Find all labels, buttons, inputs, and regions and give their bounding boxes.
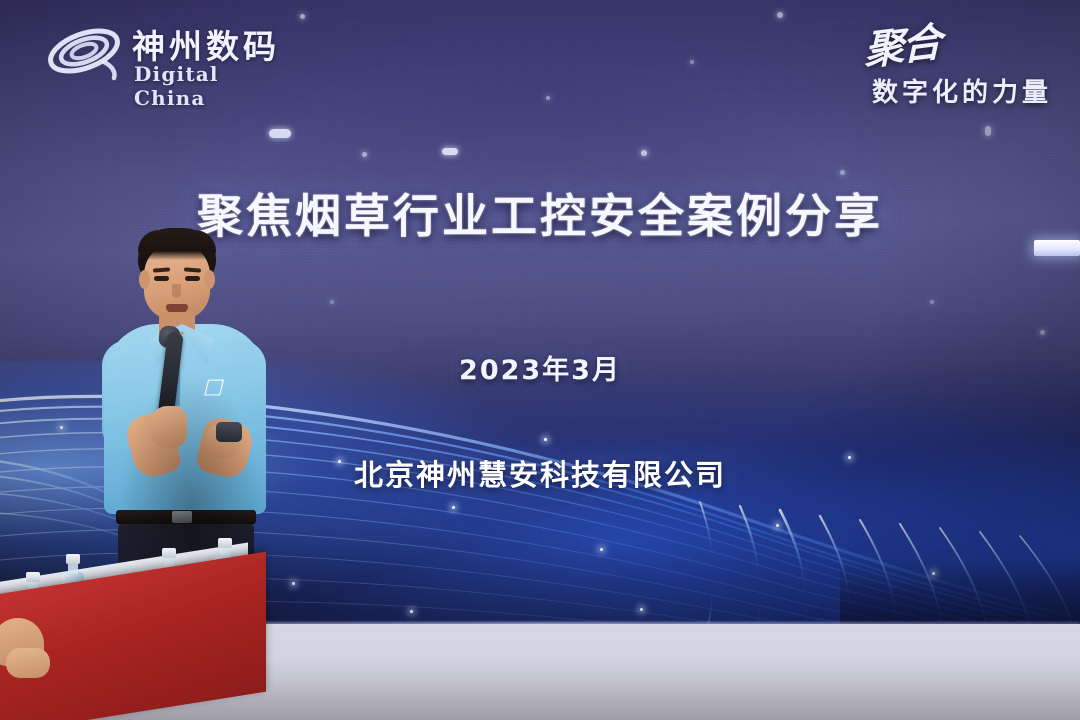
speaker-belt-buckle [172, 511, 192, 523]
brand-name-cn: 神州数码 [132, 20, 280, 68]
stage-right-shadow [840, 560, 1080, 630]
presentation-clicker [216, 422, 242, 442]
speaker-nose [172, 284, 181, 298]
calligraphy-text: 聚合 [864, 9, 940, 77]
juhe-calligraphy-logo: 聚合 数字化的力量 [798, 12, 1058, 112]
conference-stage-photo: 神州数码 Digital China 聚合 数字化的力量 聚焦烟草行业工控安全案… [0, 0, 1080, 720]
calligraphy-tagline: 数字化的力量 [872, 72, 1052, 109]
speaker-ear-left [139, 270, 150, 289]
digital-china-logo: 神州数码 Digital China [44, 14, 294, 92]
speaker-hand-left [151, 406, 187, 448]
brand-name-en: Digital China [134, 62, 294, 110]
spiral-swirl-icon [44, 18, 124, 84]
speaker-eye-right [185, 276, 200, 281]
shirt-logo-icon: ⃞ [208, 378, 234, 400]
speaker-ear-right [204, 270, 215, 289]
speaker-hair-fringe [138, 230, 216, 260]
speaker-eye-left [154, 276, 169, 281]
attendee-hand [6, 648, 50, 678]
